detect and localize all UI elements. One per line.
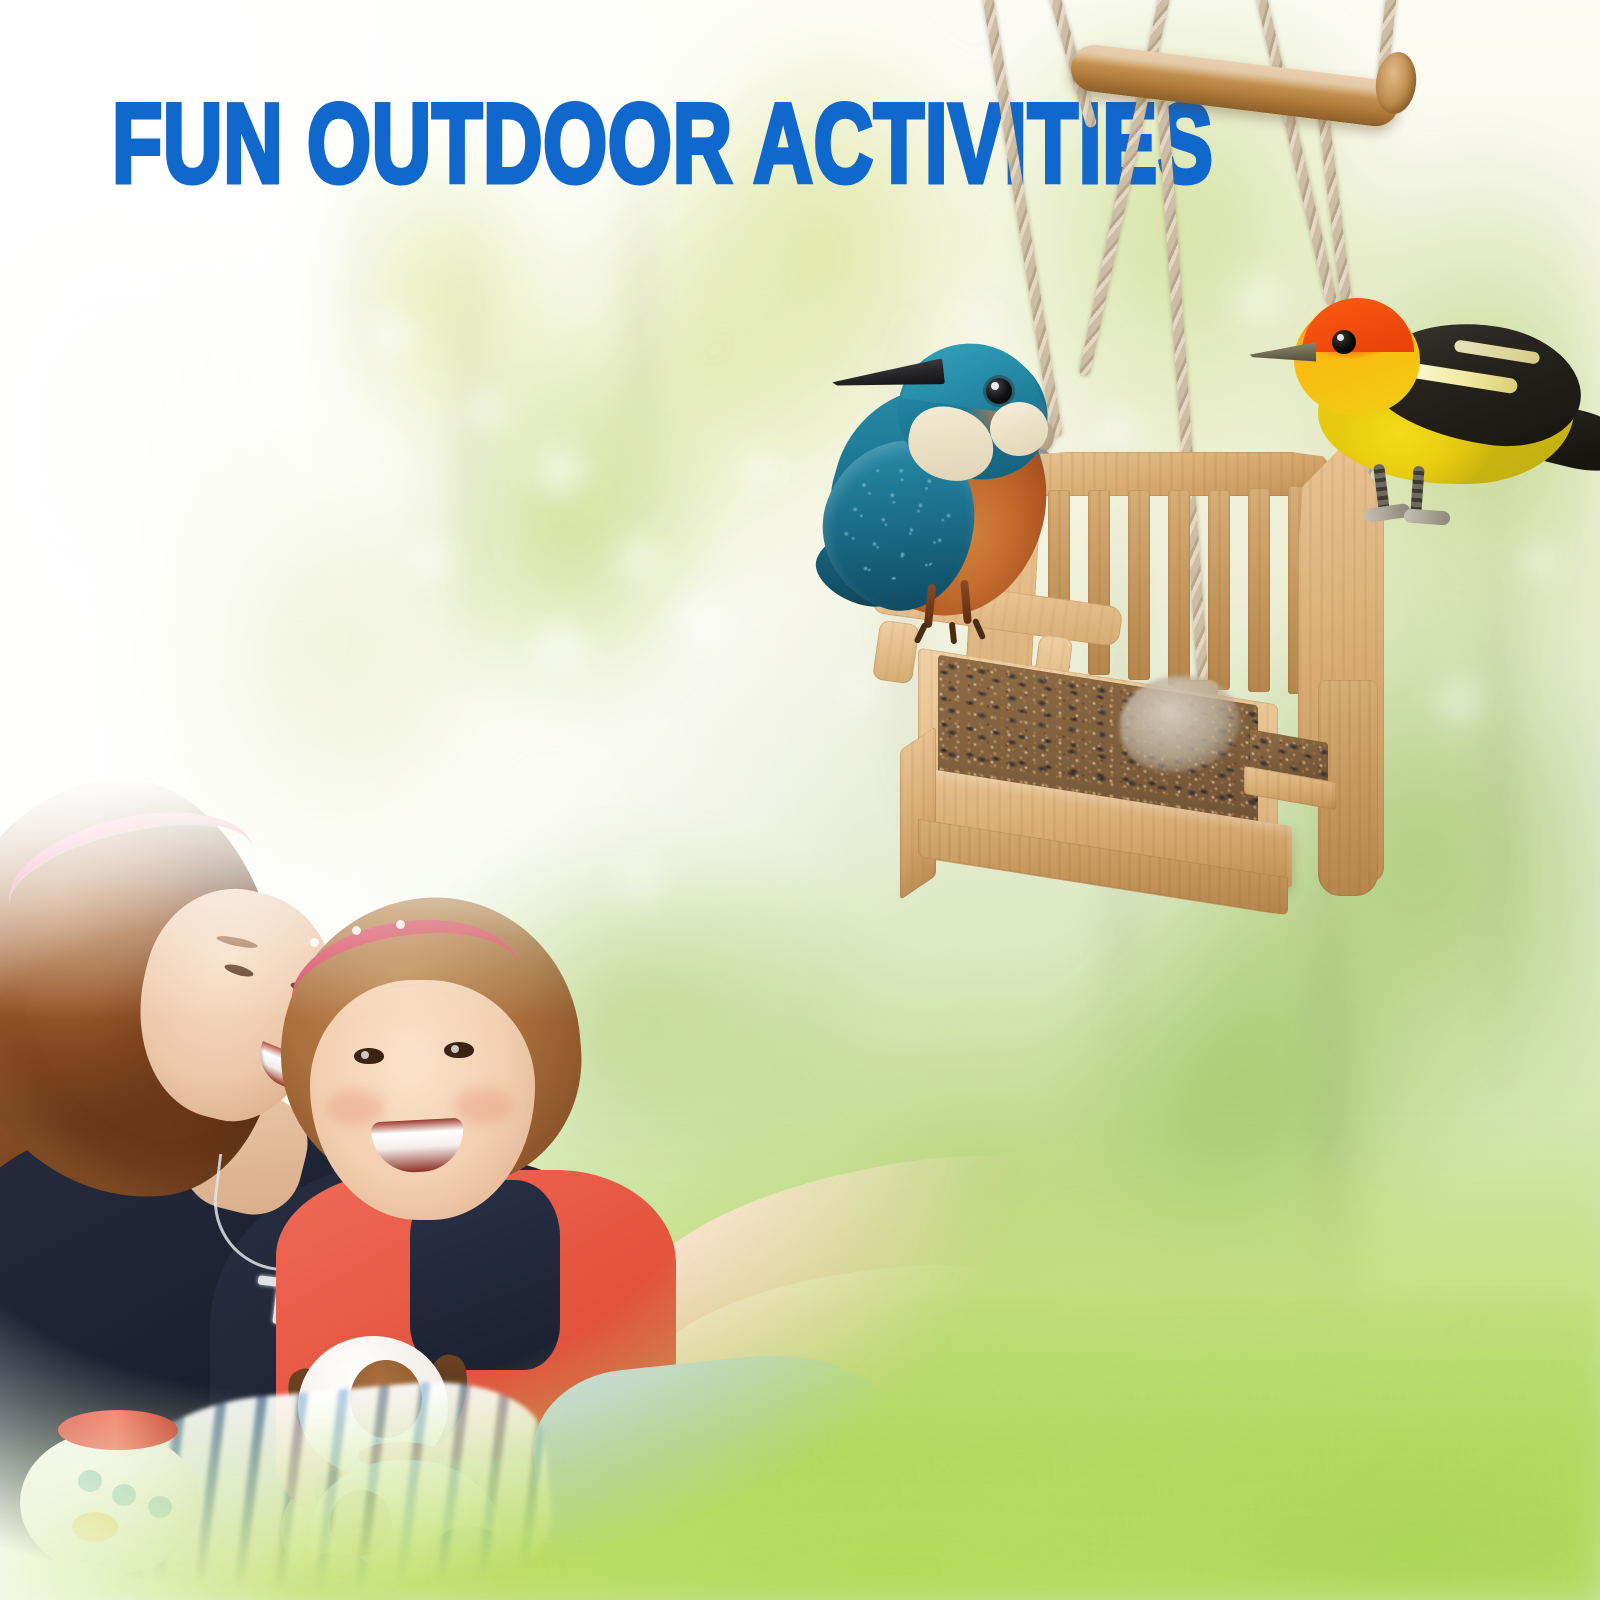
bird-western-tanager [1258, 288, 1600, 548]
tanager-red-crown [1302, 298, 1414, 352]
kingfisher-neck-patch [990, 402, 1048, 456]
bench-back-slat [1208, 490, 1230, 690]
ball-toy-dot [78, 1470, 102, 1492]
poster-canvas: FUN OUTDOOR ACTIVITIES [0, 0, 1600, 1600]
tanager-leg [1410, 466, 1424, 515]
headband-dot [352, 926, 361, 935]
wooden-dowel-crossbar [1068, 42, 1401, 129]
product-bird-feeder-swing [820, 0, 1600, 1000]
headband-dot [396, 920, 405, 929]
bird-kingfisher [810, 330, 1070, 630]
bench-back-slat [1128, 490, 1150, 680]
ball-toy-ring [58, 1410, 178, 1450]
bench-back-slat [1088, 490, 1110, 675]
ball-toy-dot [72, 1512, 118, 1542]
child-cheek [326, 1090, 384, 1126]
bench-back-slat [1168, 490, 1190, 686]
tanager-foot [1404, 508, 1451, 525]
ball-toy-dot [148, 1496, 172, 1518]
ball-toy-dot [112, 1484, 136, 1506]
tanager-eye [1332, 330, 1356, 354]
feeder-tray-left-rail [900, 726, 936, 900]
kingfisher-claw [949, 622, 957, 645]
ball-toy [20, 1430, 200, 1575]
child-eye [354, 1048, 384, 1064]
kingfisher-eye [986, 378, 1012, 404]
headband-dot [310, 938, 319, 947]
child-cheek [454, 1088, 512, 1124]
child-eye [444, 1042, 474, 1058]
